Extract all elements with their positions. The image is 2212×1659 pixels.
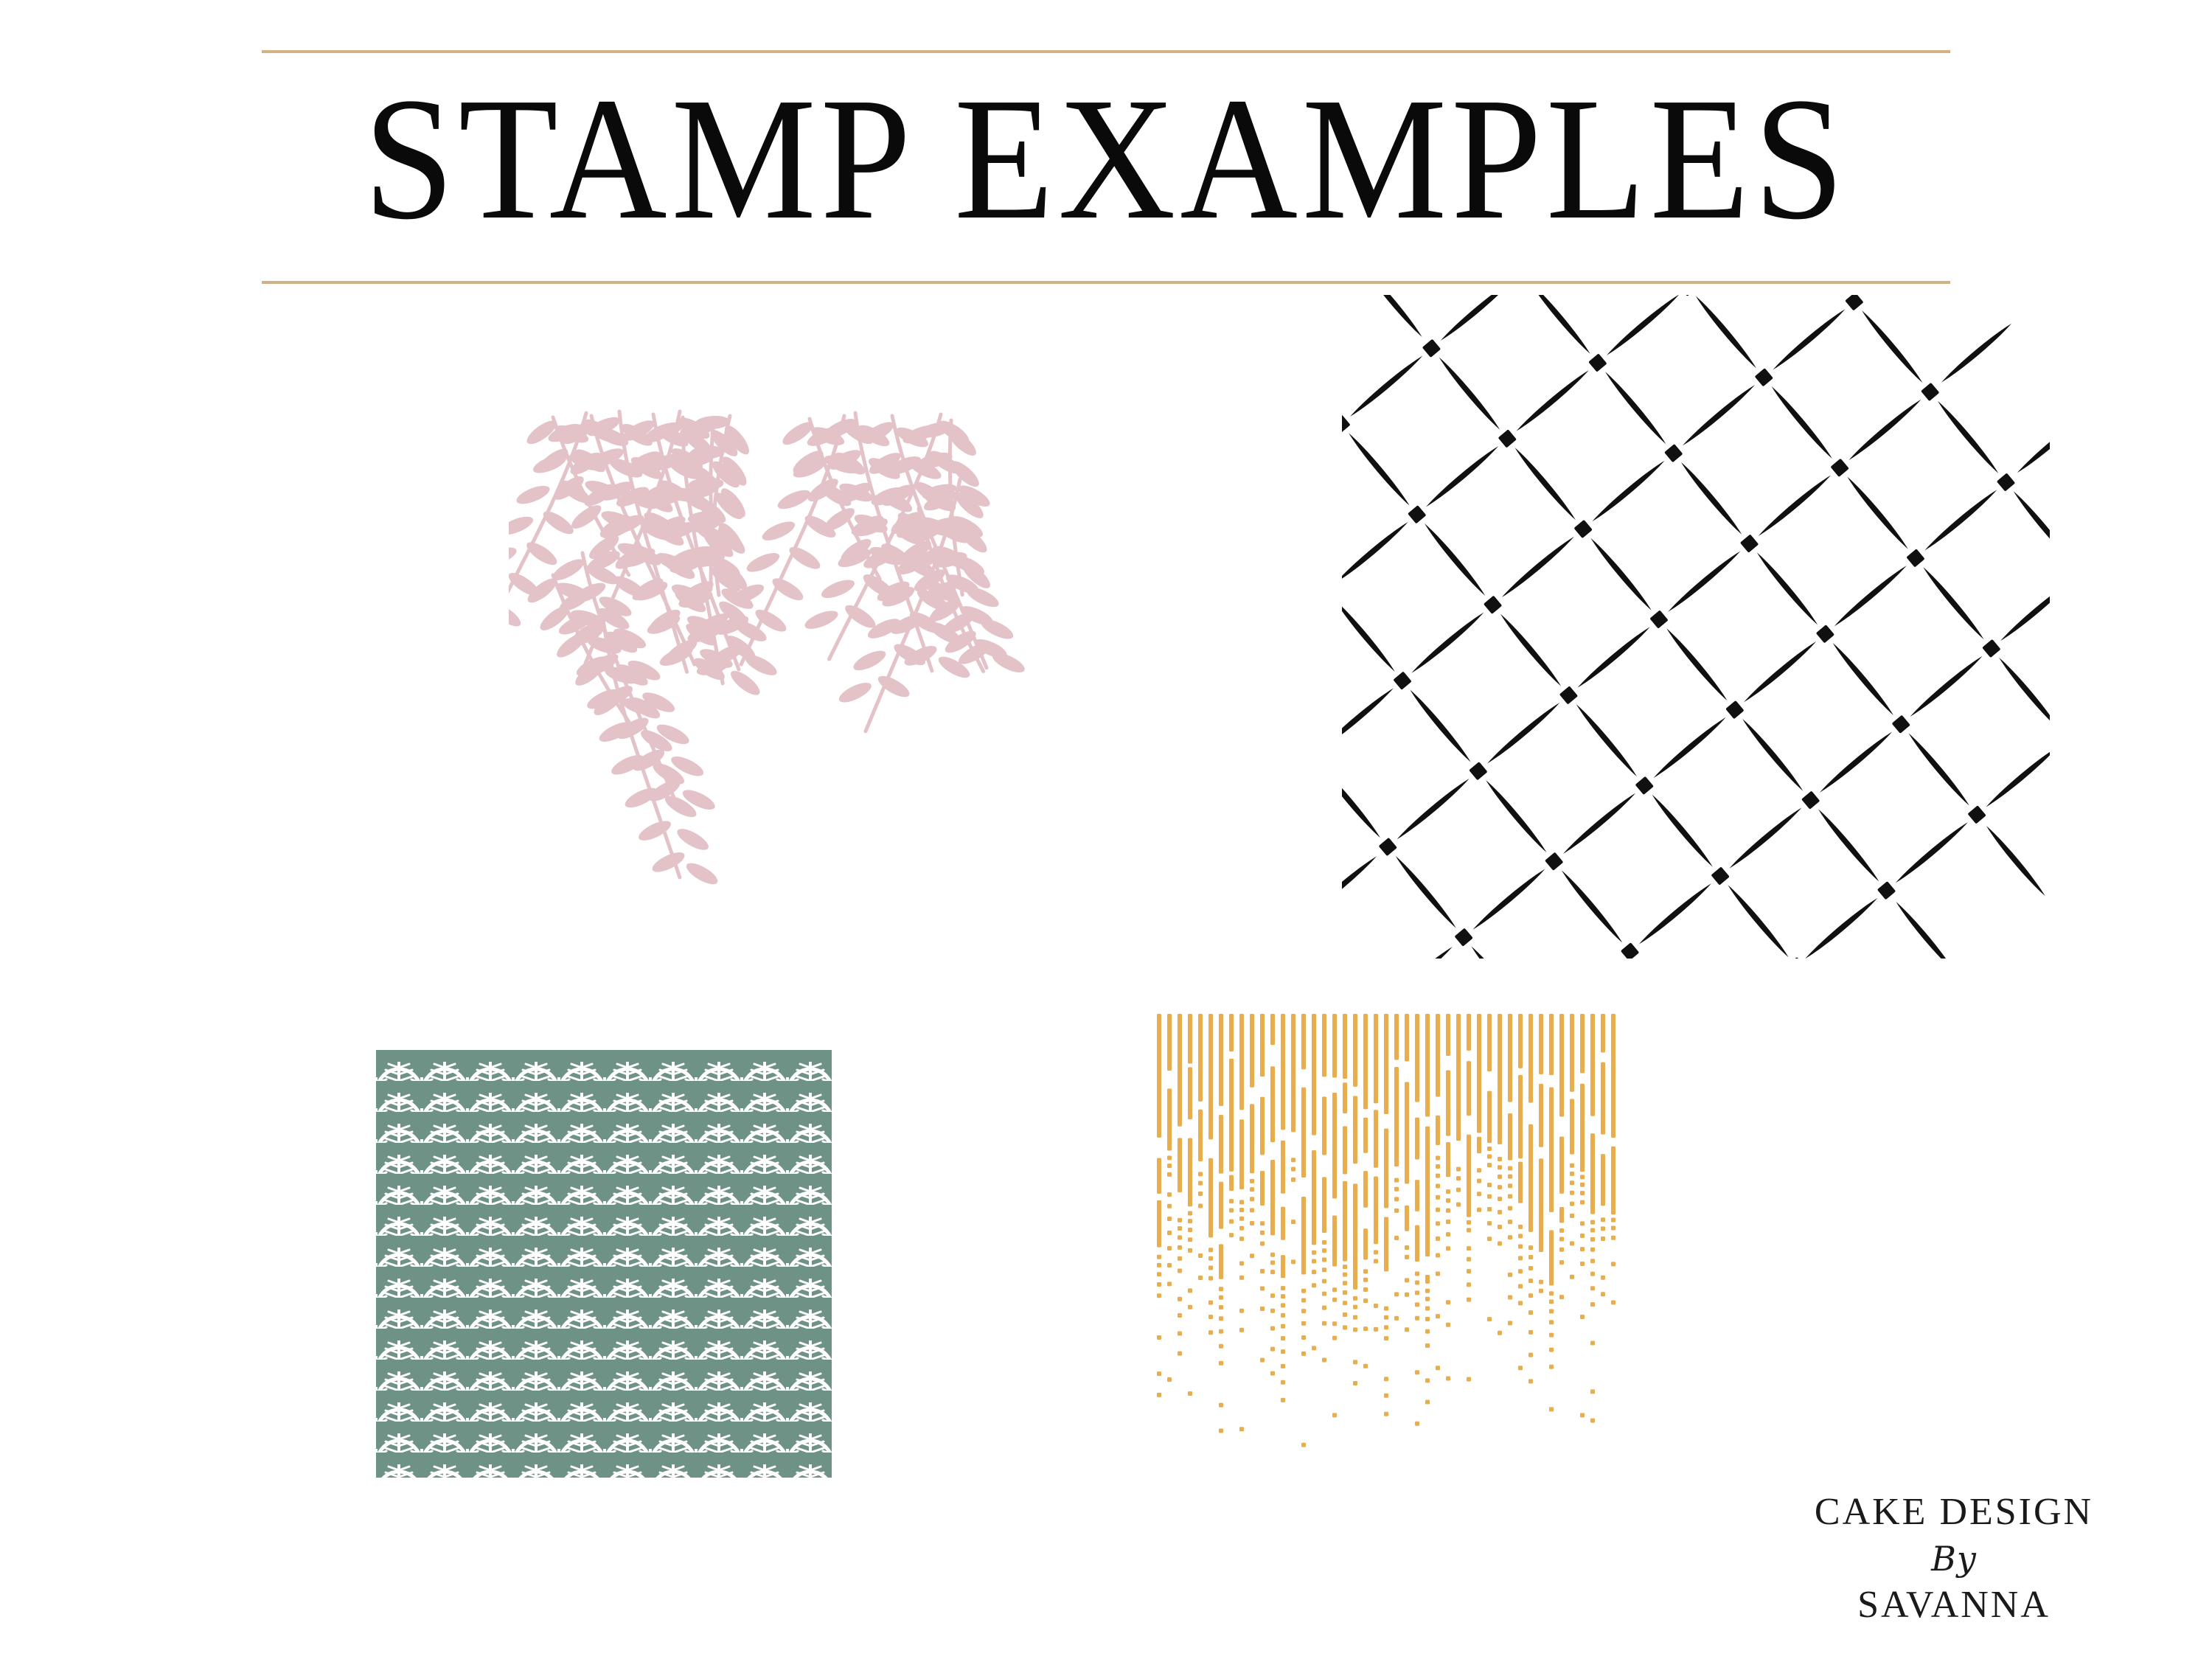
stamp-sample-leaf-scallop[interactable]: [376, 1050, 832, 1478]
stamp-sample-willow-branches[interactable]: [509, 398, 1025, 914]
header-rule-bottom: [262, 281, 1950, 284]
diamond-lattice-pattern-icon: [1342, 295, 2050, 959]
brand-line-savanna: SAVANNA: [1770, 1582, 2138, 1628]
dotted-rain-pattern-icon: [1154, 1014, 1622, 1471]
brand-logo: CAKE DESIGN By SAVANNA: [1770, 1489, 2138, 1628]
header-rule-top: [262, 50, 1950, 53]
page-title: STAMP EXAMPLES: [77, 71, 2135, 248]
willow-branch-pattern-icon: [509, 398, 1025, 914]
brand-line-cake-design: CAKE DESIGN: [1770, 1489, 2138, 1535]
leaf-scallop-pattern-icon: [376, 1050, 832, 1478]
stamp-sample-dotted-rain[interactable]: [1154, 1014, 1622, 1471]
brand-line-by: By: [1770, 1535, 2138, 1582]
header: STAMP EXAMPLES: [0, 0, 2212, 295]
stamp-sample-diamond-lattice[interactable]: [1342, 295, 2050, 959]
